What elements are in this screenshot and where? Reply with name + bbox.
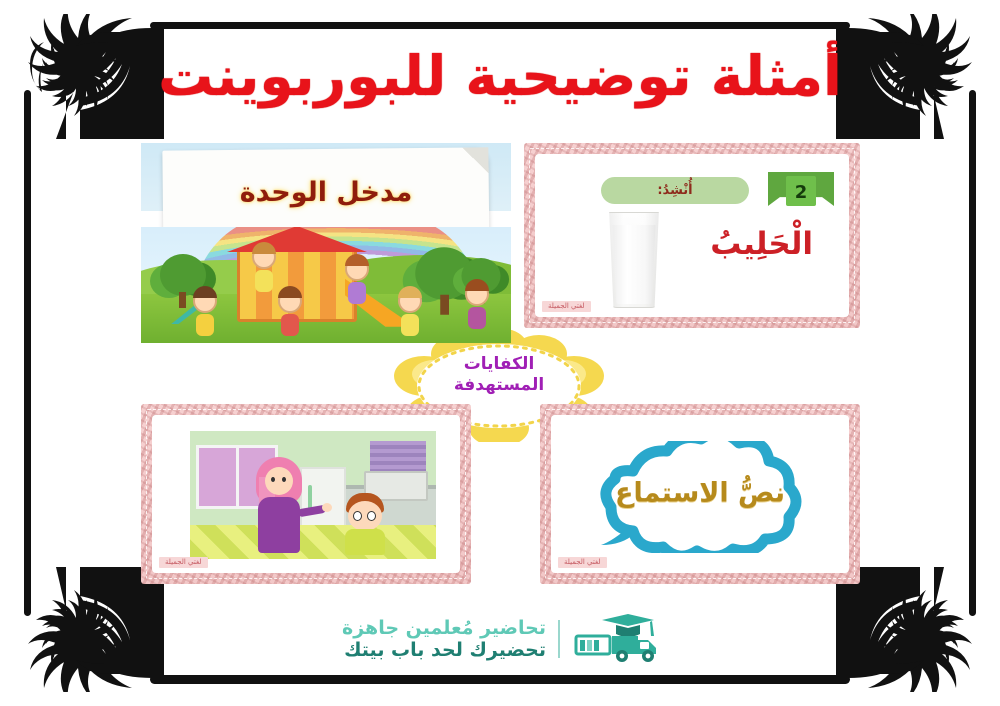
frame-top-line [150, 22, 850, 29]
page-title: أمثلة توضيحية للبوربوينت [0, 48, 1000, 106]
kitchen-slide-inner: لغتي الجميلة [152, 415, 460, 573]
slide-card-milk[interactable]: أُنْشِدُ: 2 الْحَلِيبُ لغتي الجميلة [524, 143, 860, 328]
center-badge-line1: الكفايات [374, 354, 624, 375]
slide-card-listening-text[interactable]: نصُّ الاستماع لغتي الجميلة [540, 404, 860, 584]
milk-slide-inner: أُنْشِدُ: 2 الْحَلِيبُ لغتي الجميلة [535, 154, 849, 317]
child-figure [398, 289, 422, 336]
lesson-number: 2 [786, 178, 816, 206]
footer-logo: تحاضير مُعلمين جاهزة تحضيرك لحد باب بيتك [0, 614, 1000, 664]
unit-entry-heading: مدخل الوحدة [141, 177, 511, 208]
frame-bottom-line [150, 675, 850, 684]
slide-footer-tag: لغتي الجميلة [542, 301, 591, 312]
anshidu-pill-label: أُنْشِدُ: [601, 177, 749, 204]
slide-footer-tag: لغتي الجميلة [558, 557, 607, 568]
boy-figure [342, 493, 388, 555]
milk-word: الْحَلِيبُ [710, 226, 813, 262]
listening-slide-inner: نصُّ الاستماع لغتي الجميلة [551, 415, 849, 573]
child-figure [465, 282, 489, 329]
footer-logo-text: تحاضير مُعلمين جاهزة تحضيرك لحد باب بيتك [342, 617, 546, 662]
slide-card-unit-entry[interactable]: مدخل الوحدة [141, 143, 511, 343]
footer-logo-line1: تحاضير مُعلمين جاهزة [342, 617, 546, 639]
slide-footer-tag: لغتي الجميلة [159, 557, 208, 568]
frame-right-line [969, 90, 976, 616]
center-badge-text: الكفايات المستهدفة [374, 354, 624, 397]
child-figure [252, 245, 276, 292]
kitchen-illustration [190, 431, 436, 559]
listening-text-label: نصُّ الاستماع [551, 477, 849, 508]
child-figure [193, 289, 217, 336]
footer-logo-line2: تحضيرك لحد باب بيتك [342, 639, 546, 661]
footer-logo-divider [558, 620, 560, 658]
mother-figure [252, 457, 310, 553]
delivery-truck-graduation-cap-icon [572, 614, 658, 664]
center-badge-line2: المستهدفة [374, 375, 624, 396]
child-figure [278, 289, 302, 336]
unit-entry-inner: مدخل الوحدة [141, 143, 511, 343]
poster-page: أمثلة توضيحية للبوربوينت الكفايات [0, 0, 1000, 706]
slide-card-kitchen[interactable]: لغتي الجميلة [141, 404, 471, 584]
playground-illustration [141, 227, 511, 343]
child-figure [345, 257, 369, 304]
frame-left-line [24, 90, 31, 616]
glass-of-milk-icon [607, 212, 661, 308]
